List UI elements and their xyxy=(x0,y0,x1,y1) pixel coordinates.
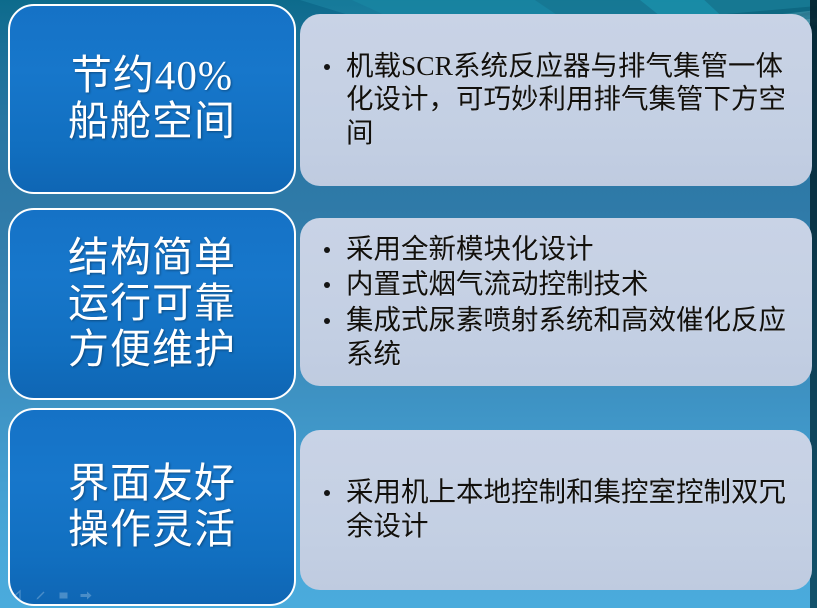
label-line: 操作灵活 xyxy=(68,507,236,553)
label-line: 运行可靠 xyxy=(68,281,236,327)
label-line: 节约40% xyxy=(68,53,236,99)
list-item: 内置式烟气流动控制技术 xyxy=(318,267,798,301)
label-box-row-3-text: 界面友好 操作灵活 xyxy=(62,461,242,553)
label-line: 结构简单 xyxy=(68,235,236,281)
content-panel-row-1: 机载SCR系统反应器与排气集管一体化设计，可巧妙利用排气集管下方空间 xyxy=(300,14,812,186)
label-box-row-2: 结构简单 运行可靠 方便维护 xyxy=(8,208,296,400)
slide-row-3: 界面友好 操作灵活 采用机上本地控制和集控室控制双冗余设计 xyxy=(0,405,817,608)
label-box-row-3: 界面友好 操作灵活 xyxy=(8,408,296,606)
slide-menu-icon[interactable] xyxy=(56,588,70,602)
label-box-row-1: 节约40% 船舱空间 xyxy=(8,4,296,194)
next-slide-icon[interactable] xyxy=(79,588,93,602)
list-item: 采用全新模块化设计 xyxy=(318,232,798,266)
list-item: 机载SCR系统反应器与排气集管一体化设计，可巧妙利用排气集管下方空间 xyxy=(318,49,798,150)
list-item: 集成式尿素喷射系统和高效催化反应系统 xyxy=(318,303,798,370)
presentation-slide: 节约40% 船舱空间 机载SCR系统反应器与排气集管一体化设计，可巧妙利用排气集… xyxy=(0,0,817,608)
label-box-row-2-text: 结构简单 运行可靠 方便维护 xyxy=(62,235,242,373)
label-box-row-1-text: 节约40% 船舱空间 xyxy=(62,53,242,145)
slideshow-controls[interactable] xyxy=(10,588,93,602)
list-item: 采用机上本地控制和集控室控制双冗余设计 xyxy=(318,475,798,542)
bullet-list-row-2: 采用全新模块化设计 内置式烟气流动控制技术 集成式尿素喷射系统和高效催化反应系统 xyxy=(318,232,798,372)
slide-row-2: 结构简单 运行可靠 方便维护 采用全新模块化设计 内置式烟气流动控制技术 集成式… xyxy=(0,200,817,405)
content-panel-row-2: 采用全新模块化设计 内置式烟气流动控制技术 集成式尿素喷射系统和高效催化反应系统 xyxy=(300,218,812,386)
content-panel-row-3: 采用机上本地控制和集控室控制双冗余设计 xyxy=(300,430,812,590)
previous-slide-icon[interactable] xyxy=(10,588,24,602)
slide-row-1: 节约40% 船舱空间 机载SCR系统反应器与排气集管一体化设计，可巧妙利用排气集… xyxy=(0,0,817,200)
bullet-list-row-3: 采用机上本地控制和集控室控制双冗余设计 xyxy=(318,475,798,544)
pen-icon[interactable] xyxy=(33,588,47,602)
label-line: 船舱空间 xyxy=(68,99,236,145)
bullet-list-row-1: 机载SCR系统反应器与排气集管一体化设计，可巧妙利用排气集管下方空间 xyxy=(318,49,798,152)
label-line: 方便维护 xyxy=(68,327,236,373)
label-line: 界面友好 xyxy=(68,461,236,507)
